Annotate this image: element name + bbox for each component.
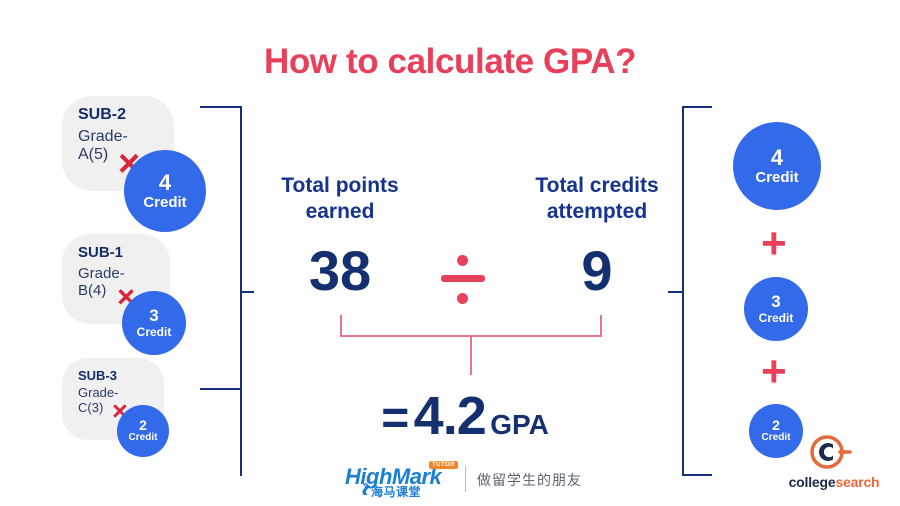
label-line-2: earned [306, 200, 375, 223]
credit-value: 4 [771, 146, 783, 170]
credit-value: 3 [149, 307, 158, 325]
total-credits-value: 9 [508, 243, 686, 299]
grade-line-2: B(4) [78, 282, 106, 299]
credit-label: Credit [143, 195, 186, 211]
label-line-1: Total points [281, 174, 398, 197]
highmark-logo: HighMark TUTOR 海马课堂 做留学生的朋友 [345, 462, 595, 504]
result-connector-bracket [340, 315, 602, 375]
plus-icon: + [761, 222, 787, 266]
credit-value: 3 [771, 293, 780, 311]
gpa-label: GPA [490, 409, 549, 440]
sum-credit-circle-1: 4 Credit [733, 122, 821, 210]
highmark-slogan: 做留学生的朋友 [477, 470, 582, 490]
credit-label: Credit [129, 433, 158, 444]
credit-label: Credit [759, 312, 794, 325]
magnifier-c-icon [808, 432, 852, 472]
equals-sign: = [381, 392, 409, 445]
plus-icon: + [761, 350, 787, 394]
left-bracket [200, 106, 244, 476]
label-line-1: Total credits [535, 174, 658, 197]
credit-circle-sub2: 4 Credit [124, 150, 206, 232]
collegesearch-logo: collegesearch [770, 432, 898, 496]
credit-label: Credit [137, 326, 172, 339]
infographic-canvas: How to calculate GPA? SUB-2 Grade- A(5) … [0, 0, 900, 506]
sum-credit-circle-2: 3 Credit [744, 277, 808, 341]
logo-word-search: search [835, 474, 879, 490]
gpa-result: = 4.2 GPA [300, 385, 630, 447]
subject-name-sub1: SUB-1 [78, 244, 123, 261]
credit-value: 2 [139, 418, 147, 433]
credit-circle-sub3: 2 Credit [117, 405, 169, 457]
total-credits-label: Total credits attempted [508, 173, 686, 224]
total-points-label: Total points earned [252, 173, 428, 224]
logo-divider [465, 466, 466, 492]
credit-label: Credit [755, 170, 798, 186]
subject-name-sub3: SUB-3 [78, 368, 117, 383]
highmark-chinese-name: 海马课堂 [371, 483, 421, 500]
credit-value: 2 [772, 418, 780, 433]
credit-circle-sub1: 3 Credit [122, 291, 186, 355]
credit-value: 4 [159, 171, 171, 195]
gpa-value: 4.2 [414, 386, 486, 446]
divide-icon [441, 253, 485, 305]
grade-line-2: A(5) [78, 146, 108, 163]
subject-name-sub2: SUB-2 [78, 106, 126, 124]
grade-line-2: C(3) [78, 400, 103, 415]
page-title: How to calculate GPA? [0, 42, 900, 82]
total-points-value: 38 [252, 243, 428, 299]
logo-word-college: college [789, 474, 836, 490]
collegesearch-wordmark: collegesearch [770, 474, 898, 490]
tutor-badge: TUTOR [429, 461, 458, 469]
label-line-2: attempted [547, 200, 647, 223]
